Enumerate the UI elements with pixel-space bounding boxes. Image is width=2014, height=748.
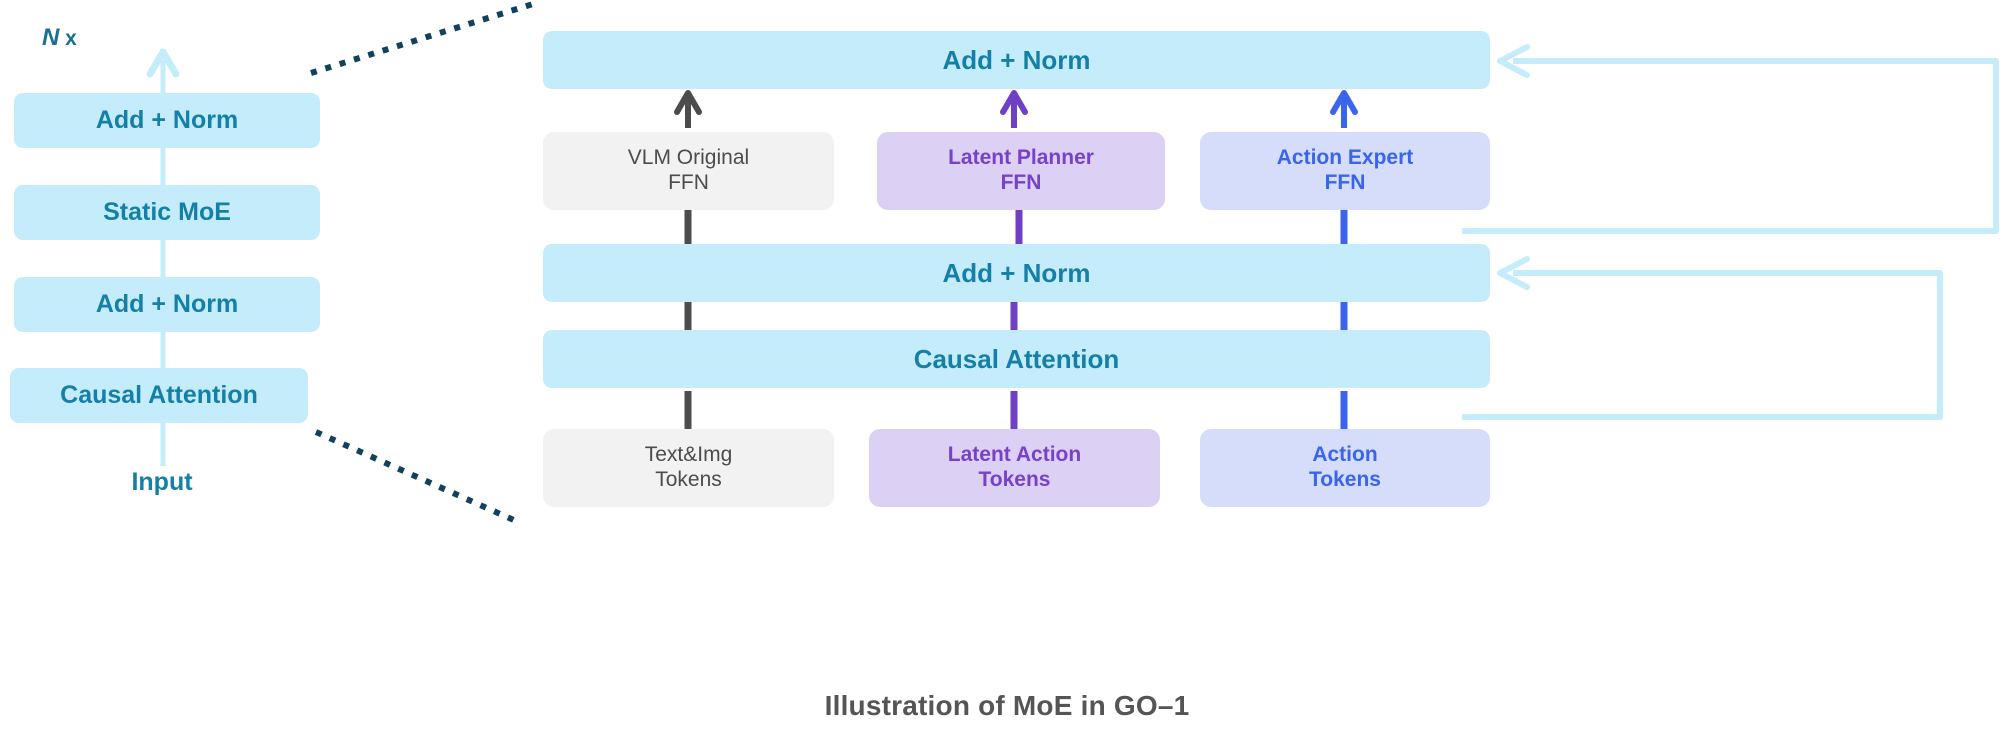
figure-caption: Illustration of MoE in GO–1: [0, 690, 2014, 722]
residual-connection-upper: [1462, 47, 1996, 231]
right-causal-attention[interactable]: Causal Attention: [543, 330, 1490, 388]
ffn-vlm-original[interactable]: VLM Original FFN: [543, 132, 834, 210]
repeat-count-label: N x: [42, 24, 77, 52]
tokens-text-img[interactable]: Text&Img Tokens: [543, 429, 834, 507]
tokens-action[interactable]: Action Tokens: [1200, 429, 1490, 507]
dotted-connector-bottom: [316, 432, 516, 521]
residual-connection-lower: [1462, 259, 1940, 417]
repeat-count-x: x: [59, 27, 77, 50]
dotted-connector-top: [311, 4, 533, 73]
left-block-add-norm-top[interactable]: Add + Norm: [14, 93, 320, 148]
diagram-canvas: N x Add + Norm Static MoE Add + Norm Cau…: [0, 0, 2014, 748]
left-block-add-norm-bottom[interactable]: Add + Norm: [14, 277, 320, 332]
right-add-norm-top[interactable]: Add + Norm: [543, 31, 1490, 89]
left-input-label: Input: [62, 468, 262, 497]
ffn-action-expert[interactable]: Action Expert FFN: [1200, 132, 1490, 210]
left-block-static-moe[interactable]: Static MoE: [14, 185, 320, 240]
left-block-causal-attention[interactable]: Causal Attention: [10, 368, 308, 423]
repeat-count-n: N: [42, 24, 59, 51]
tokens-latent-action[interactable]: Latent Action Tokens: [869, 429, 1160, 507]
ffn-latent-planner[interactable]: Latent Planner FFN: [877, 132, 1165, 210]
right-add-norm-mid[interactable]: Add + Norm: [543, 244, 1490, 302]
